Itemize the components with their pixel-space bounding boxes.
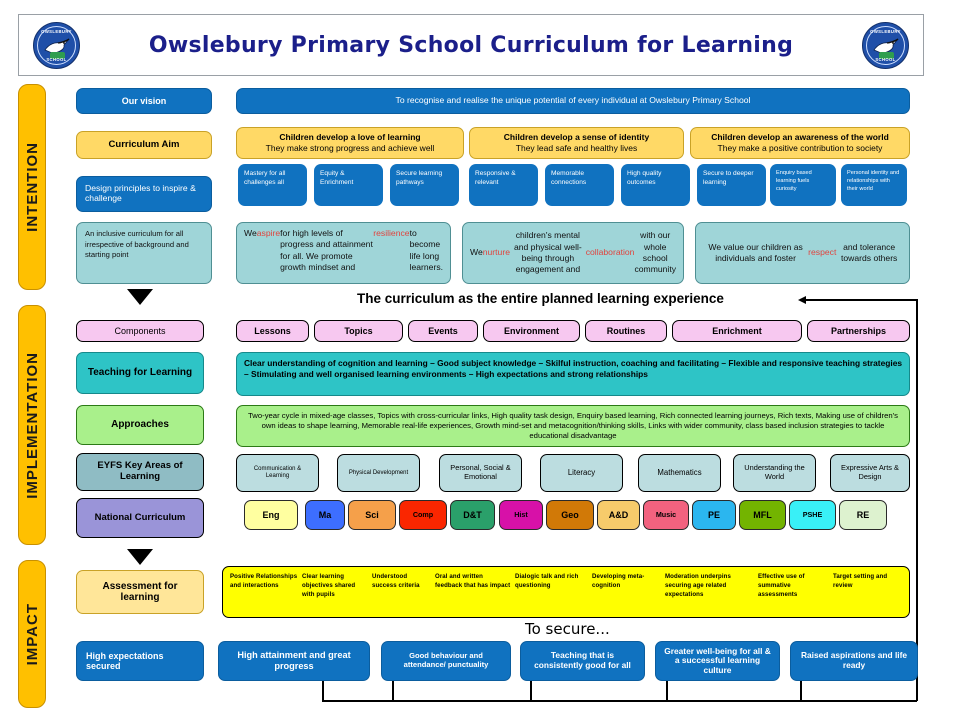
principle-1-1: Memorable connections — [545, 164, 614, 206]
assessment-item: Positive Relationships and interactions — [230, 573, 298, 591]
vision-statement: To recognise and realise the unique pote… — [236, 88, 910, 114]
logo-top-text: OWSLEBURY — [34, 29, 79, 34]
curriculum-heading: The curriculum as the entire planned lea… — [357, 291, 724, 306]
to-secure-heading: To secure... — [525, 620, 610, 638]
title-bar: OWSLEBURY SCHOOL Owslebury Primary Schoo… — [18, 14, 924, 76]
component-environment: Environment — [483, 320, 580, 342]
outcome-raised-aspirations: Raised aspirations and life ready — [790, 641, 918, 681]
school-crest-logo-left: OWSLEBURY SCHOOL — [33, 22, 80, 69]
value-keyword: resilience — [373, 228, 409, 239]
label-our-vision: Our vision — [76, 88, 212, 114]
aim-heading: Children develop a sense of identity — [504, 133, 649, 143]
curriculum-poster: OWSLEBURY SCHOOL Owslebury Primary Schoo… — [0, 0, 960, 720]
label-eyfs: EYFS Key Areas of Learning — [76, 453, 204, 491]
outcome-high-attainment: High attainment and great progress — [218, 641, 370, 681]
frame-tick-4 — [800, 681, 802, 701]
frame-tick-2 — [530, 681, 532, 701]
assessment-item: Moderation underpins securing age relate… — [665, 573, 755, 599]
label-assessment-for-learning: Assessment for learning — [76, 570, 204, 614]
subject-chip-sci: Sci — [348, 500, 396, 530]
assessment-item: Dialogic talk and rich questioning — [515, 573, 587, 591]
value-text: to become life long learners. — [410, 228, 443, 273]
phase-label-implementation: IMPLEMENTATION — [24, 352, 41, 499]
aim-sub: They make a positive contribution to soc… — [718, 144, 883, 154]
value-keyword: respect — [808, 247, 836, 258]
principle-0-0: Mastery for all challenges all — [238, 164, 307, 206]
label-teaching-for-learning: Teaching for Learning — [76, 352, 204, 394]
label-inclusive-curriculum: An inclusive curriculum for all irrespec… — [76, 222, 212, 284]
label-curriculum-aim: Curriculum Aim — [76, 131, 212, 159]
subject-chip-mfl: MFL — [739, 500, 786, 530]
principle-2-1: Enquiry based learning fuels curiosity — [770, 164, 836, 206]
label-national-curriculum: National Curriculum — [76, 498, 204, 538]
aim-sub: They make strong progress and achieve we… — [266, 144, 435, 154]
label-design-principles: Design principles to inspire & challenge — [76, 176, 212, 212]
principle-1-0: Responsive & relevant — [469, 164, 538, 206]
outcome-high-expectations: High expectations secured — [76, 641, 204, 681]
value-statement-aspire: We aspire for high levels of progress an… — [236, 222, 451, 284]
subject-chip-ma: Ma — [305, 500, 345, 530]
eyfs-area-mathematics: Mathematics — [638, 454, 721, 492]
value-text: We — [244, 228, 257, 239]
eyfs-area-communication: Communication & Learning — [236, 454, 319, 492]
heading-arrow-line — [806, 299, 918, 301]
assessment-item: Clear learning objectives shared with pu… — [302, 573, 368, 599]
phase-bar-intention: INTENTION — [18, 84, 46, 290]
value-keyword: collaboration — [586, 247, 635, 258]
eyfs-area-literacy: Literacy — [540, 454, 623, 492]
subject-chip-re: RE — [839, 500, 887, 530]
principle-2-2: Personal identity and relationships with… — [841, 164, 907, 206]
subject-chip-pe: PE — [692, 500, 736, 530]
subject-chip-geo: Geo — [546, 500, 594, 530]
principle-2-0: Secure to deeper learning — [697, 164, 766, 206]
outcome-teaching-consistent: Teaching that is consistently good for a… — [520, 641, 645, 681]
label-components: Components — [76, 320, 204, 342]
phase-label-intention: INTENTION — [24, 142, 41, 232]
aim-heading: Children develop an awareness of the wor… — [711, 133, 889, 143]
eyfs-area-expressive-arts: Expressive Arts & Design — [830, 454, 910, 492]
value-text: and tolerance towards others — [836, 242, 902, 265]
component-topics: Topics — [314, 320, 403, 342]
assessment-item: Understood success criteria — [372, 573, 432, 591]
phase-bar-impact: IMPACT — [18, 560, 46, 708]
value-text: We value our children as individuals and… — [703, 242, 808, 265]
component-partnerships: Partnerships — [807, 320, 910, 342]
aim-card-1: Children develop a sense of identity The… — [469, 127, 684, 159]
eyfs-area-understanding-world: Understanding the World — [733, 454, 816, 492]
value-text: We — [470, 247, 483, 258]
approaches-text: Two-year cycle in mixed-age classes, Top… — [236, 405, 910, 447]
down-arrow-intention-to-implementation — [127, 289, 153, 305]
heading-arrow-head — [798, 296, 806, 304]
component-events: Events — [408, 320, 478, 342]
school-crest-logo-right: OWSLEBURY SCHOOL — [862, 22, 909, 69]
aim-heading: Children develop a love of learning — [279, 133, 420, 143]
value-keyword: nurture — [483, 247, 510, 258]
eyfs-area-psed: Personal, Social & Emotional — [439, 454, 522, 492]
assessment-item: Oral and written feedback that has impac… — [435, 573, 511, 591]
value-statement-nurture: We nurture children's mental and physica… — [462, 222, 684, 284]
frame-tick-3 — [666, 681, 668, 701]
logo-top-text: OWSLEBURY — [863, 29, 908, 34]
aim-card-0: Children develop a love of learning They… — [236, 127, 464, 159]
outcome-wellbeing: Greater well-being for all & a successfu… — [655, 641, 780, 681]
subject-chip-pshe: PSHE — [789, 500, 836, 530]
assessment-item: Effective use of summative assessments — [758, 573, 830, 599]
value-keyword: aspire — [257, 228, 280, 239]
subject-chip-hist: Hist — [499, 500, 543, 530]
principle-0-2: Secure learning pathways — [390, 164, 459, 206]
frame-tick-1 — [392, 681, 394, 701]
aim-sub: They lead safe and healthy lives — [516, 144, 637, 154]
value-text: with our whole school community — [634, 230, 676, 275]
assessment-item: Target setting and review — [833, 573, 903, 591]
frame-bottom-horizontal — [322, 700, 917, 702]
label-approaches: Approaches — [76, 405, 204, 445]
principle-0-1: Equity & Enrichment — [314, 164, 383, 206]
subject-chip-a-d: A&D — [597, 500, 640, 530]
logo-bottom-text: SCHOOL — [863, 57, 908, 62]
component-enrichment: Enrichment — [672, 320, 802, 342]
value-text: children's mental and physical well-bein… — [510, 230, 586, 275]
component-routines: Routines — [585, 320, 667, 342]
down-arrow-implementation-to-impact — [127, 549, 153, 565]
aim-card-2: Children develop an awareness of the wor… — [690, 127, 910, 159]
subject-chip-comp: Comp — [399, 500, 447, 530]
value-text: for high levels of progress and attainme… — [280, 228, 373, 273]
subject-chip-eng: Eng — [244, 500, 298, 530]
subject-chip-d-t: D&T — [450, 500, 495, 530]
eyfs-area-physical: Physical Development — [337, 454, 420, 492]
component-lessons: Lessons — [236, 320, 309, 342]
logo-bottom-text: SCHOOL — [34, 57, 79, 62]
page-title: Owslebury Primary School Curriculum for … — [80, 33, 862, 58]
frame-left-stub — [322, 681, 324, 701]
subject-chip-music: Music — [643, 500, 689, 530]
value-statement-respect: We value our children as individuals and… — [695, 222, 910, 284]
frame-right-vertical — [916, 299, 918, 701]
phase-label-impact: IMPACT — [24, 603, 41, 665]
teaching-for-learning-text: Clear understanding of cognition and lea… — [236, 352, 910, 396]
assessment-item: Developing meta-cognition — [592, 573, 662, 591]
phase-bar-implementation: IMPLEMENTATION — [18, 305, 46, 545]
outcome-good-behaviour: Good behaviour and attendance/ punctuali… — [381, 641, 511, 681]
principle-1-2: High quality outcomes — [621, 164, 690, 206]
